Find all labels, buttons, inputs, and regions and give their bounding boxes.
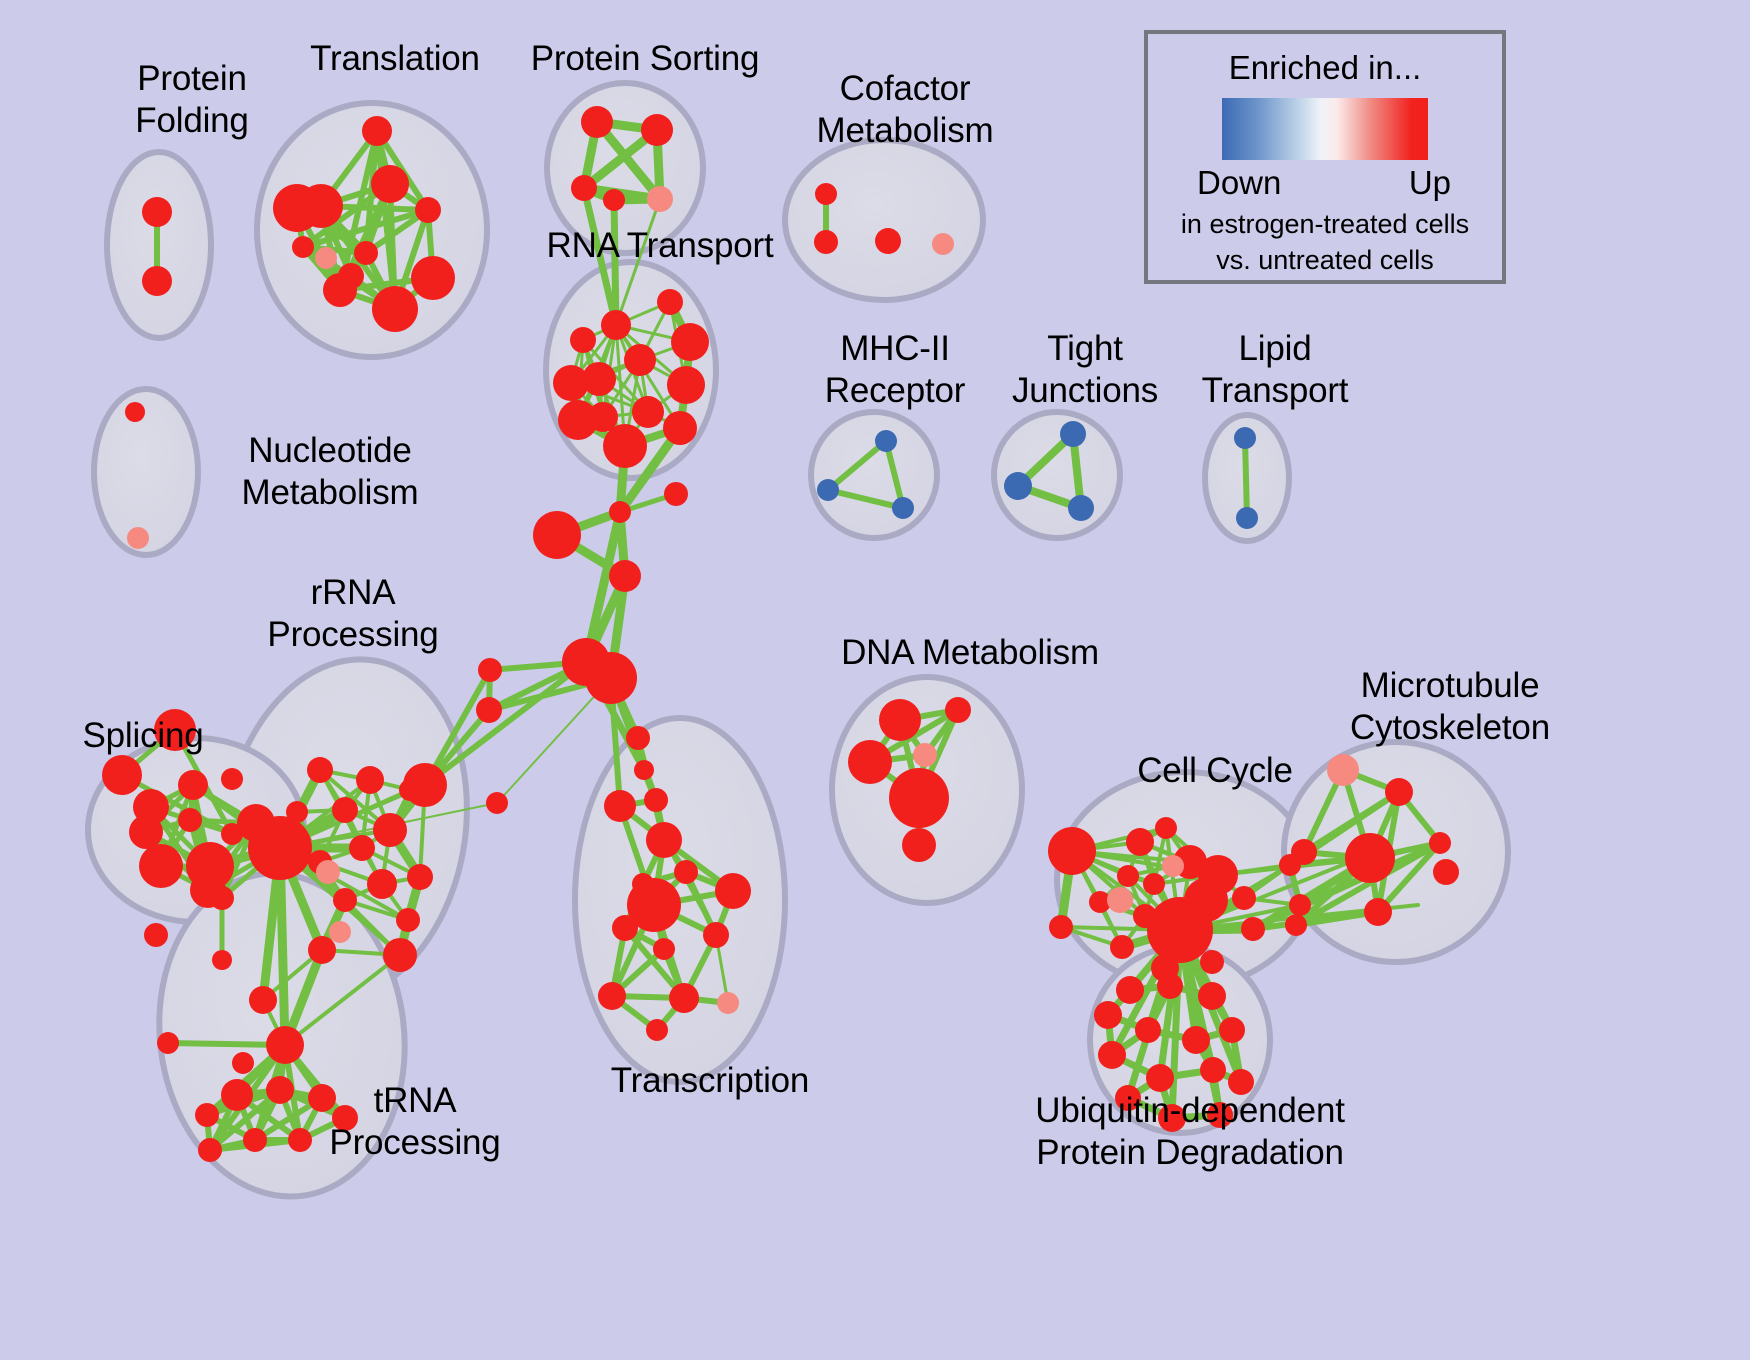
legend-high-label: Up [1409,164,1451,202]
node [632,396,664,428]
node [1126,828,1154,856]
cluster-label-ubiquitin: Ubiquitin-dependent Protein Degradation [965,1090,1415,1174]
node [349,835,375,861]
node [671,323,709,361]
node [715,873,751,909]
node [1117,865,1139,887]
node [415,197,441,223]
legend-subtitle-line1: in estrogen-treated cells [1148,208,1502,240]
node [1285,914,1307,936]
node [1219,1017,1245,1043]
node [889,768,949,828]
node [332,797,358,823]
node [558,400,598,440]
cluster-label-splicing: Splicing [48,715,238,757]
node [582,362,616,396]
node [913,743,937,767]
node [1429,832,1451,854]
node [598,982,626,1010]
node [664,482,688,506]
node [571,175,597,201]
node [717,992,739,1014]
node [815,183,837,205]
node [1049,915,1073,939]
node [1157,973,1183,999]
node [609,560,641,592]
node [1068,495,1094,521]
node [892,497,914,519]
node [1135,1017,1161,1043]
cluster-label-cell-cycle: Cell Cycle [1090,750,1340,792]
node [367,869,397,899]
node [932,233,954,255]
node [601,310,631,340]
node [139,844,183,888]
node [1385,778,1413,806]
node [1200,1057,1226,1083]
node [570,327,596,353]
node [316,860,340,884]
node [1004,472,1032,500]
node [667,366,705,404]
legend-endpoints: Down Up [1205,164,1445,204]
node [1094,1001,1122,1029]
node [315,247,337,269]
node [102,755,142,795]
cluster-label-lipid-transport: Lipid Transport [1165,328,1385,412]
node [142,266,172,296]
node [646,822,682,858]
node [486,792,508,814]
node [1048,827,1096,875]
node [657,289,683,315]
node [646,1019,668,1041]
node [476,697,502,723]
node [243,1128,267,1152]
node [817,479,839,501]
node [329,921,351,943]
node [478,658,502,682]
node [232,1052,254,1074]
node [653,938,675,960]
node [945,697,971,723]
node [266,1026,304,1064]
node [632,873,654,895]
node [338,263,364,289]
node [157,1032,179,1054]
node [221,768,243,790]
node [1198,982,1226,1010]
node [354,241,378,265]
cluster-label-dna-metabolism: DNA Metabolism [800,632,1140,674]
node [902,828,936,862]
node [879,699,921,741]
node [144,923,168,947]
node [178,770,208,800]
node [308,936,336,964]
node [1433,859,1459,885]
node [533,511,581,559]
node [221,1079,253,1111]
node [399,779,421,801]
node [248,816,312,880]
node [644,788,668,812]
node [624,344,656,376]
node [634,760,654,780]
node [249,986,277,1014]
cluster-label-transcription: Transcription [560,1060,860,1102]
node [1364,898,1392,926]
node [125,402,145,422]
node [1279,854,1301,876]
legend-subtitle-line2: vs. untreated cells [1148,244,1502,276]
node [178,808,202,832]
node [1184,878,1228,922]
cluster-label-tight-junctions: Tight Junctions [975,328,1195,412]
node [411,256,455,300]
node [875,228,901,254]
node [396,908,420,932]
node [1110,935,1134,959]
node [407,864,433,890]
hull-nucleotide-metabolism [94,389,198,555]
node [641,114,673,146]
cluster-label-microtubule-cytoskeleton: Microtubule Cytoskeleton [1290,665,1610,749]
node [647,186,673,212]
hull-cofactor-metabolism [785,140,983,300]
node [1200,950,1224,974]
node [292,236,314,258]
node [1143,873,1165,895]
node [1060,421,1086,447]
node [210,886,234,910]
cluster-label-protein-sorting: Protein Sorting [480,38,810,80]
legend-title: Enriched in... [1148,49,1502,87]
node [603,424,647,468]
node [1146,1064,1174,1092]
network-figure: Protein Folding Translation Protein Sort… [0,0,1750,1360]
node [1155,817,1177,839]
node [604,790,636,822]
node [362,116,392,146]
node [273,184,321,232]
node [703,922,729,948]
node [1098,1041,1126,1069]
legend-color-gradient-bar [1222,98,1428,160]
node [127,527,149,549]
node [1345,833,1395,883]
cluster-label-cofactor-metabolism: Cofactor Metabolism [770,68,1040,152]
node [1107,887,1133,913]
node [1116,976,1144,1004]
node [626,726,650,750]
cluster-label-trna-processing: tRNA Processing [290,1080,540,1164]
legend-low-label: Down [1197,164,1281,202]
node [371,165,409,203]
node [129,815,163,849]
node [1232,886,1256,910]
node [1182,1026,1210,1054]
node [848,740,892,784]
node [356,766,384,794]
cluster-label-rna-transport: RNA Transport [495,225,825,267]
node [198,1138,222,1162]
node [383,938,417,972]
node [669,983,699,1013]
node [372,286,418,332]
legend-box: Enriched in... Down Up in estrogen-treat… [1144,30,1506,284]
node [875,430,897,452]
node [307,757,333,783]
node [585,652,637,704]
node [1162,855,1184,877]
node [663,411,697,445]
cluster-label-rrna-processing: rRNA Processing [228,572,478,656]
node [609,501,631,523]
node [581,106,613,138]
node [195,1103,219,1127]
node [212,950,232,970]
node [142,197,172,227]
node [1236,507,1258,529]
node [603,189,625,211]
node [373,813,407,847]
node [333,888,357,912]
node [674,860,698,884]
node [612,915,638,941]
hull-mhc-ii-receptor [811,412,937,538]
node [1289,894,1311,916]
node [1241,917,1265,941]
cluster-label-nucleotide-metabolism: Nucleotide Metabolism [185,430,475,514]
node [1234,427,1256,449]
